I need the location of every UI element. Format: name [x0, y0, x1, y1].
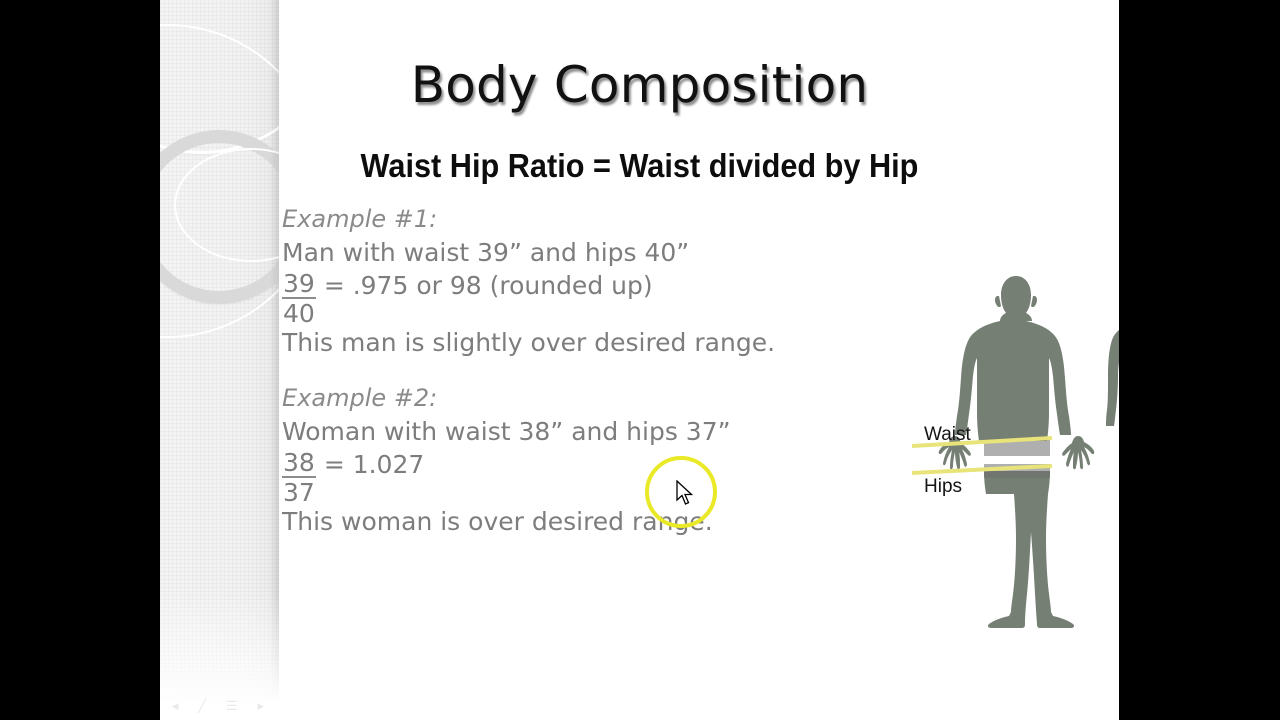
fraction-1-numerator: 39 [282, 271, 316, 299]
previous-icon[interactable]: ◂ [172, 699, 179, 712]
example-block-1: Example #1: Man with waist 39” and hips … [282, 205, 842, 357]
example-2-equation: 38 37 = 1.027 [282, 450, 842, 505]
media-controls[interactable]: ◂ ╱ ☰ ▸ [162, 694, 274, 716]
pen-icon[interactable]: ╱ [198, 699, 206, 712]
example-2-heading: Example #2: [282, 384, 842, 412]
male-waist-label: Waist [924, 424, 972, 445]
slide-canvas: ◂ ╱ ☰ ▸ Body Composition Waist Hip Ratio… [160, 0, 1119, 720]
next-icon[interactable]: ▸ [258, 699, 265, 712]
male-measure-bands [984, 440, 1050, 478]
fraction-2-denominator: 37 [283, 478, 315, 505]
example-block-2: Example #2: Woman with waist 38” and hip… [282, 384, 842, 536]
slide-body: Example #1: Man with waist 39” and hips … [282, 205, 842, 539]
spacer [282, 360, 842, 384]
example-1-result: = .975 or 98 (rounded up) [324, 271, 653, 300]
page-title: Body Composition [160, 56, 1119, 114]
female-silhouette [1106, 274, 1119, 595]
example-1-conclusion: This man is slightly over desired range. [282, 328, 842, 357]
male-hips-label: Hips [924, 476, 962, 497]
menu-icon[interactable]: ☰ [226, 699, 238, 712]
fraction-1-denominator: 40 [283, 299, 315, 326]
example-2-result: = 1.027 [324, 450, 424, 479]
example-2-statement: Woman with waist 38” and hips 37” [282, 417, 842, 446]
example-1-equation: 39 40 = .975 or 98 (rounded up) [282, 271, 842, 326]
fraction-2: 38 37 [282, 450, 316, 505]
body-measurement-diagram: Waist Hips [912, 268, 1119, 628]
example-1-heading: Example #1: [282, 205, 842, 233]
fraction-1: 39 40 [282, 271, 316, 326]
screen: ◂ ╱ ☰ ▸ Body Composition Waist Hip Ratio… [0, 0, 1280, 720]
example-1-statement: Man with waist 39” and hips 40” [282, 238, 842, 267]
slide-subtitle: Waist Hip Ratio = Waist divided by Hip [194, 147, 1086, 185]
example-2-conclusion: This woman is over desired range. [282, 507, 842, 536]
fraction-2-numerator: 38 [282, 450, 316, 478]
